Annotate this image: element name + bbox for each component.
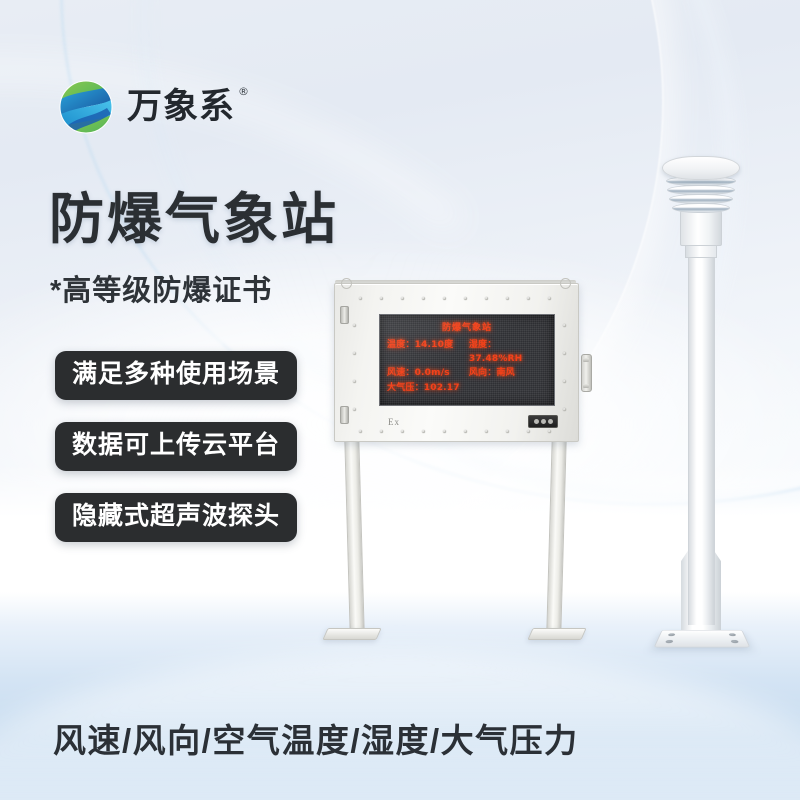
cabinet-bolt-top-9 bbox=[548, 297, 551, 300]
indicator-dot-1 bbox=[534, 419, 539, 424]
page-subtitle: *高等级防爆证书 bbox=[50, 277, 272, 306]
cabinet-foot-right bbox=[527, 628, 586, 640]
cabinet-bolt-left-2 bbox=[353, 380, 356, 383]
cabinet-bolt-top-8 bbox=[527, 297, 530, 300]
cabinet-bolt-bottom-8 bbox=[527, 430, 530, 433]
led-temperature: 温度：14.10度 bbox=[387, 338, 469, 366]
mounting-flange-icon bbox=[654, 630, 751, 647]
indicator-dot-3 bbox=[548, 419, 553, 424]
cabinet-leg-left bbox=[344, 440, 364, 632]
cabinet-bolt-bottom-1 bbox=[380, 430, 383, 433]
feature-pill-3: 隐藏式超声波探头 bbox=[55, 493, 297, 542]
lifting-eye-icon-right bbox=[560, 278, 571, 289]
cabinet-bolt-top-4 bbox=[443, 297, 446, 300]
cabinet-bolt-top-1 bbox=[380, 297, 383, 300]
flange-hole-1 bbox=[668, 633, 676, 636]
louver-shield-icon-2 bbox=[667, 185, 735, 195]
led-display-screen: 防爆气象站 温度：14.10度 湿度：37.48%RH 风速：0.0m/s 风向… bbox=[379, 314, 555, 406]
cabinet-bolt-left-3 bbox=[353, 408, 356, 411]
feature-pill-1: 满足多种使用场景 bbox=[55, 351, 297, 400]
cabinet-bolt-bottom-9 bbox=[548, 430, 551, 433]
louver-shield-icon-3 bbox=[669, 194, 733, 204]
flange-hole-3 bbox=[665, 640, 673, 643]
cabinet-bolt-bottom-5 bbox=[464, 430, 467, 433]
indicator-dot-2 bbox=[541, 419, 546, 424]
sensor-mast bbox=[640, 150, 760, 660]
cabinet-bolt-right-1 bbox=[563, 352, 566, 355]
led-humidity: 湿度：37.48%RH bbox=[469, 338, 547, 366]
cabinet-bolt-top-3 bbox=[422, 297, 425, 300]
cabinet-bolt-bottom-2 bbox=[401, 430, 404, 433]
product-banner: 万象系® 防爆气象站 *高等级防爆证书 满足多种使用场景 数据可上传云平台 隐藏… bbox=[0, 0, 800, 800]
page-title: 防爆气象站 bbox=[49, 192, 339, 247]
brand-logo: 万象系® bbox=[57, 78, 235, 136]
cabinet-bolt-right-0 bbox=[563, 324, 566, 327]
registered-mark: ® bbox=[238, 86, 250, 97]
cabinet-bolt-top-6 bbox=[485, 297, 488, 300]
flange-hole-2 bbox=[729, 633, 737, 636]
sensor-cap bbox=[662, 156, 740, 180]
cabinet-bolt-top-0 bbox=[359, 297, 362, 300]
feature-list: 满足多种使用场景 数据可上传云平台 隐藏式超声波探头 bbox=[55, 351, 297, 542]
cabinet-bolt-left-0 bbox=[353, 324, 356, 327]
globe-swirl-logo-icon bbox=[57, 78, 115, 136]
cabinet-bolt-bottom-0 bbox=[359, 430, 362, 433]
cabinet-body: 防爆气象站 温度：14.10度 湿度：37.48%RH 风速：0.0m/s 风向… bbox=[334, 283, 579, 442]
cabinet-foot-left bbox=[322, 628, 381, 640]
flange-hole-4 bbox=[731, 640, 739, 643]
cabinet-bolt-top-2 bbox=[401, 297, 404, 300]
led-row-3: 大气压：102.17 bbox=[387, 381, 547, 395]
led-pressure: 大气压：102.17 bbox=[387, 381, 469, 395]
led-row-3-right bbox=[469, 381, 547, 395]
led-content: 防爆气象站 温度：14.10度 湿度：37.48%RH 风速：0.0m/s 风向… bbox=[380, 315, 554, 395]
indicator-plate-icon bbox=[528, 415, 558, 428]
cabinet-bolt-bottom-7 bbox=[506, 430, 509, 433]
cabinet-bolt-bottom-3 bbox=[422, 430, 425, 433]
ultrasonic-weather-sensor-icon bbox=[680, 210, 722, 246]
led-display-title: 防爆气象站 bbox=[387, 320, 547, 333]
cabinet-bolt-top-7 bbox=[506, 297, 509, 300]
ex-marking-label: Ex bbox=[388, 417, 400, 427]
cabinet-bolt-right-2 bbox=[563, 380, 566, 383]
cabinet-bolt-right-3 bbox=[563, 408, 566, 411]
led-row-2: 风速：0.0m/s 风向：南风 bbox=[387, 366, 547, 380]
cabinet-bolt-top-5 bbox=[464, 297, 467, 300]
louver-shield-icon-4 bbox=[672, 203, 730, 213]
brand-name: 万象系® bbox=[127, 90, 235, 125]
led-wind-speed: 风速：0.0m/s bbox=[387, 366, 469, 380]
cabinet-bolt-bottom-6 bbox=[485, 430, 488, 433]
feature-tagline: 风速/风向/空气温度/湿度/大气压力 bbox=[53, 724, 579, 757]
brand-name-text: 万象系 bbox=[127, 87, 235, 127]
cabinet-bolt-bottom-4 bbox=[443, 430, 446, 433]
hinge-icon-bottom bbox=[340, 406, 349, 424]
led-row-1: 温度：14.10度 湿度：37.48%RH bbox=[387, 338, 547, 366]
feature-pill-2: 数据可上传云平台 bbox=[55, 422, 297, 471]
pole-shaft bbox=[688, 255, 715, 625]
lifting-eye-icon-left bbox=[341, 278, 352, 289]
cabinet-bolt-left-1 bbox=[353, 352, 356, 355]
hinge-icon-top bbox=[340, 306, 349, 324]
led-wind-direction: 风向：南风 bbox=[469, 366, 547, 380]
door-handle-icon bbox=[581, 354, 592, 392]
cabinet-leg-right bbox=[546, 440, 566, 632]
explosion-proof-cabinet: 防爆气象站 温度：14.10度 湿度：37.48%RH 风速：0.0m/s 风向… bbox=[325, 283, 585, 658]
